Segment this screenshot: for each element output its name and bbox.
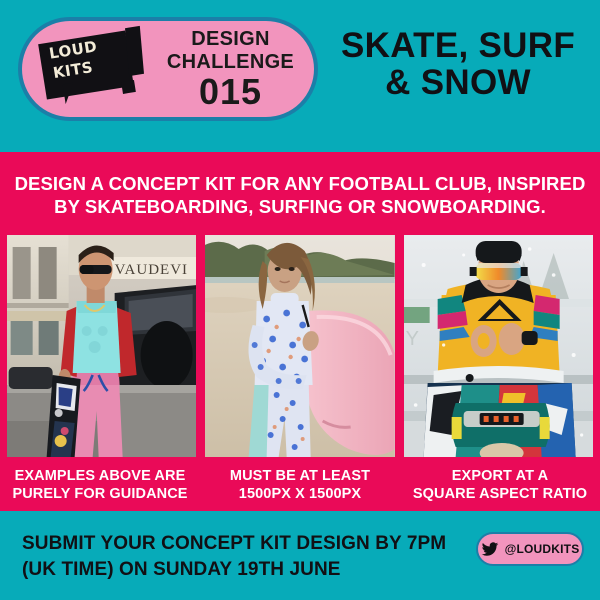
caption-size-line-2: 1500PX X 1500PX	[206, 486, 394, 504]
twitter-icon	[481, 542, 499, 557]
example-photo-snow: Y	[404, 235, 593, 457]
twitter-handle-badge[interactable]: @LOUDKITS	[476, 532, 584, 566]
brief-text: DESIGN A CONCEPT KIT FOR ANY FOOTBALL CL…	[0, 172, 600, 218]
caption-examples-line-2: PURELY FOR GUIDANCE	[6, 486, 194, 504]
caption-examples-line-1: EXAMPLES ABOVE ARE	[6, 468, 194, 486]
poster: LOUD KITS DESIGN CHALLENGE 015 SKATE, SU…	[0, 0, 600, 600]
speech-bubble-tail-icon	[63, 82, 82, 104]
example-photo-skate: VAUDEVI	[7, 235, 196, 457]
badge-line-design: DESIGN	[157, 29, 304, 49]
svg-text:Y: Y	[405, 328, 418, 350]
caption-aspect-line-1: EXPORT AT A	[406, 468, 594, 486]
snow-photo-illustration: Y	[404, 235, 593, 457]
surf-photo-illustration	[205, 235, 394, 457]
headline-line-2: & SNOW	[326, 64, 590, 101]
caption-size: MUST BE AT LEAST 1500PX X 1500PX	[200, 468, 400, 510]
design-challenge-badge: LOUD KITS DESIGN CHALLENGE 015	[18, 17, 318, 121]
exclamation-dot-icon	[121, 80, 136, 94]
brief-section: DESIGN A CONCEPT KIT FOR ANY FOOTBALL CL…	[0, 152, 600, 511]
header-bar: LOUD KITS DESIGN CHALLENGE 015 SKATE, SU…	[0, 0, 600, 152]
brief-line-2: BY SKATEBOARDING, SURFING OR SNOWBOARDIN…	[8, 195, 592, 218]
caption-aspect: EXPORT AT A SQUARE ASPECT RATIO	[400, 468, 600, 510]
brief-line-1: DESIGN A CONCEPT KIT FOR ANY FOOTBALL CL…	[8, 172, 592, 195]
loudkits-logo: LOUD KITS	[22, 19, 157, 119]
caption-aspect-line-2: SQUARE ASPECT RATIO	[406, 486, 594, 504]
exclamation-mark-icon	[125, 26, 144, 76]
example-photo-surf	[205, 235, 394, 457]
caption-size-line-1: MUST BE AT LEAST	[206, 468, 394, 486]
caption-row: EXAMPLES ABOVE ARE PURELY FOR GUIDANCE M…	[0, 468, 600, 510]
twitter-handle-text: @LOUDKITS	[505, 542, 580, 556]
deadline-text: SUBMIT YOUR CONCEPT KIT DESIGN BY 7PM (U…	[22, 531, 462, 582]
caption-examples: EXAMPLES ABOVE ARE PURELY FOR GUIDANCE	[0, 468, 200, 510]
badge-text-block: DESIGN CHALLENGE 015	[157, 29, 314, 110]
svg-text:VAUDEVI: VAUDEVI	[115, 262, 188, 278]
badge-challenge-number: 015	[157, 74, 304, 110]
deadline-line-1: SUBMIT YOUR CONCEPT KIT DESIGN BY 7PM	[22, 531, 462, 557]
page-title: SKATE, SURF & SNOW	[326, 27, 590, 101]
deadline-line-2: (UK TIME) ON SUNDAY 19TH JUNE	[22, 557, 462, 583]
skate-photo-illustration: VAUDEVI	[7, 235, 196, 457]
headline-line-1: SKATE, SURF	[326, 27, 590, 64]
badge-line-challenge: CHALLENGE	[157, 52, 304, 72]
example-photo-strip: VAUDEVI	[7, 235, 593, 457]
